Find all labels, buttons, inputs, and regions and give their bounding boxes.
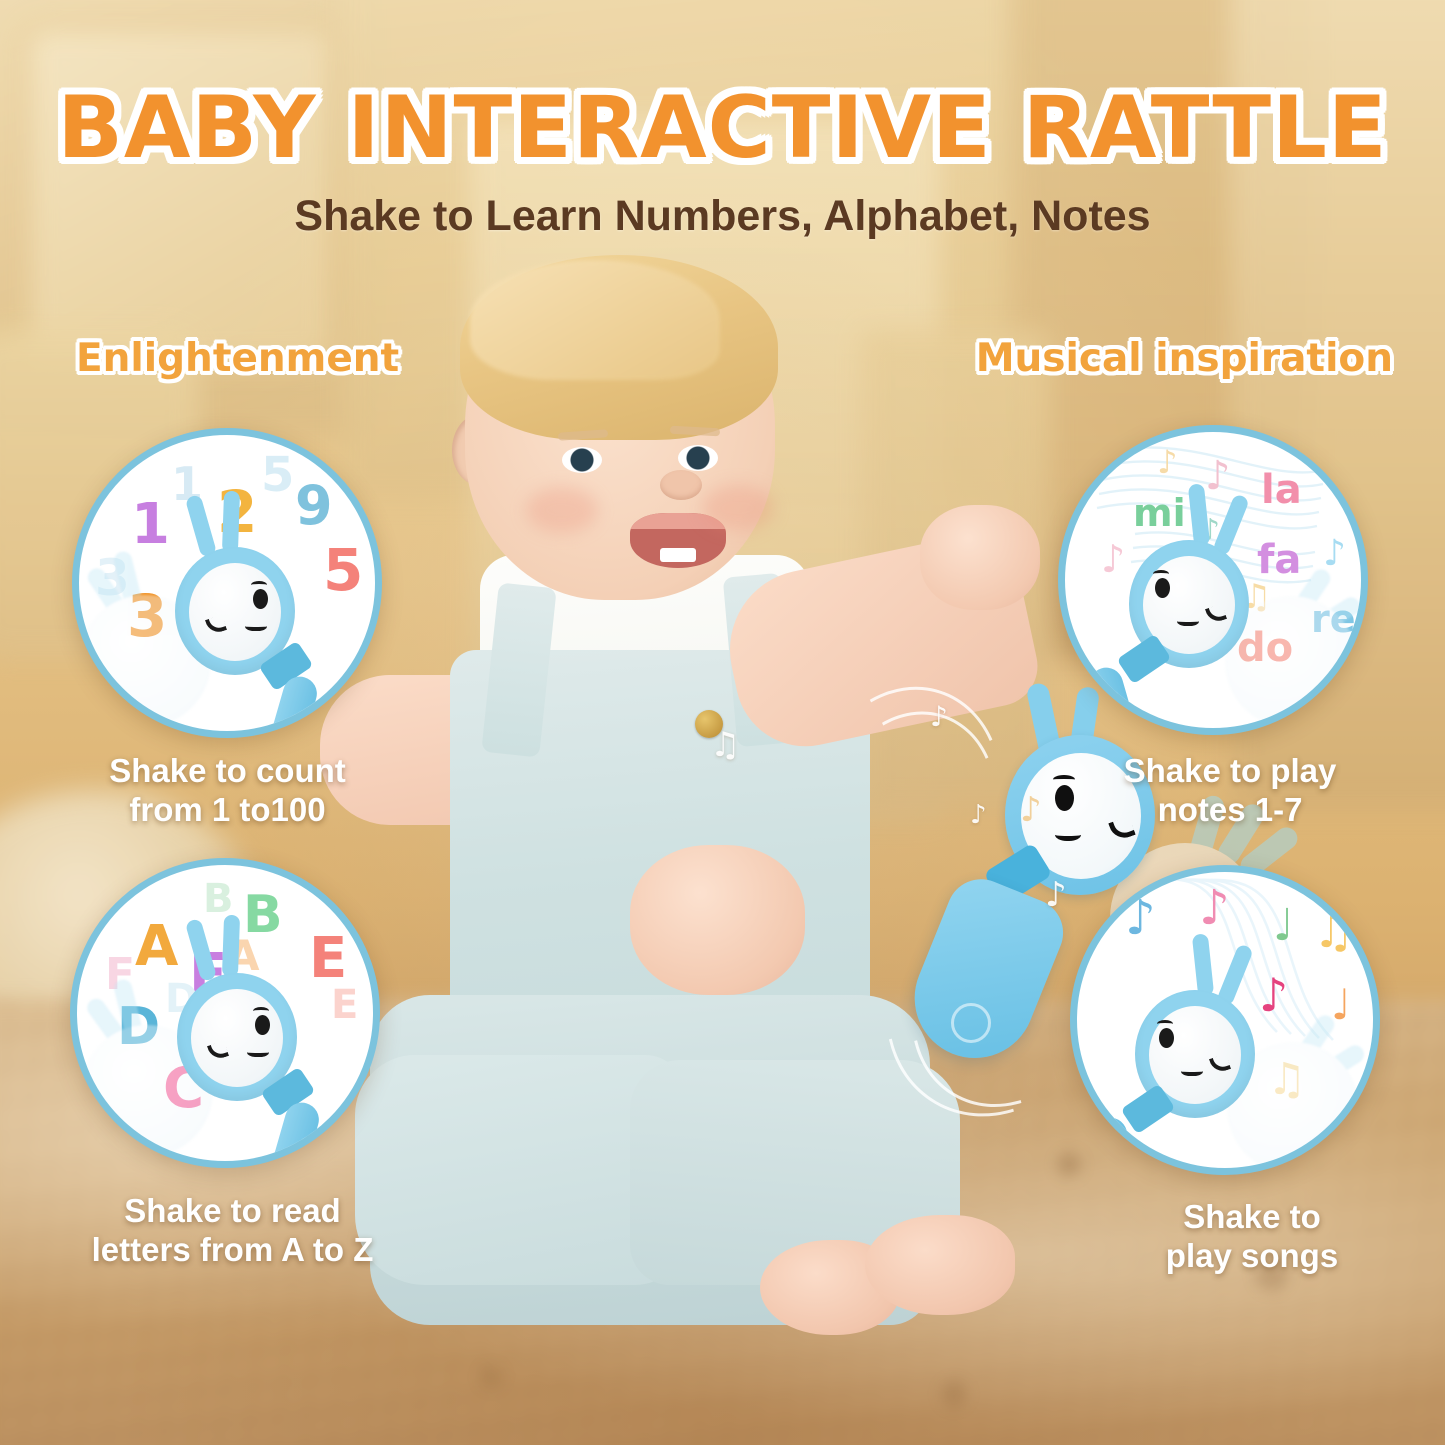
baby-foot [865, 1215, 1015, 1315]
baby-teeth [660, 548, 696, 562]
letter-glyph: E [331, 985, 358, 1025]
page-title: BABY INTERACTIVE RATTLE [0, 78, 1445, 178]
letter-glyph: B [203, 879, 234, 919]
letter-glyph: C [163, 1061, 204, 1117]
feature-caption-songs: Shake to play songs [1122, 1198, 1382, 1276]
baby-gripping-hand [630, 845, 805, 995]
music-note-icon: ♫ [1313, 908, 1354, 954]
feature-circle-songs[interactable]: ♪♪♩♫♪♩♫ [1070, 865, 1380, 1175]
baby-hair-highlight [470, 260, 720, 380]
number-glyph: 5 [261, 451, 294, 499]
feature-caption-notes: Shake to play notes 1-7 [1090, 752, 1370, 830]
rattle-eye [1055, 785, 1074, 811]
rattle-smile [1055, 827, 1081, 841]
baby-eye [678, 445, 718, 471]
number-glyph: 2 [217, 483, 257, 541]
music-note-icon: ♫ [1241, 580, 1271, 614]
baby-nose [660, 470, 702, 500]
letter-glyph: F [105, 953, 135, 997]
rattle-eyelash [251, 581, 267, 589]
music-note-icon: ♩ [1273, 904, 1294, 948]
rattle-smile [245, 619, 267, 631]
music-note-icon: ♪ [1125, 894, 1156, 942]
music-note-icon: ♪ [930, 700, 948, 733]
number-glyph: 9 [295, 479, 333, 533]
solfege-glyph: re [1311, 600, 1356, 638]
feature-caption-count: Shake to count from 1 to100 [60, 752, 395, 830]
rattle-eye [255, 1015, 270, 1035]
feature-circle-notes[interactable]: milafaredo ♪♪♪♫♪♪ [1058, 425, 1368, 735]
baby-photo: ♫ ♪ ♪ ♪ ♪ [330, 255, 1090, 1445]
feature-circle-letters[interactable]: BBAFFAEDDCEC [70, 858, 380, 1168]
solfege-glyph: la [1261, 470, 1302, 510]
solfege-glyph: fa [1257, 540, 1301, 580]
section-heading-right: Musical inspiration [976, 336, 1393, 381]
rattle-collar [1117, 634, 1172, 685]
solfege-glyph: mi [1133, 494, 1186, 532]
letter-glyph: A [227, 935, 260, 977]
rattle-smile [247, 1045, 269, 1057]
feature-circle-count[interactable]: 151293235 [72, 428, 382, 738]
music-note-icon: ♪ [1157, 446, 1177, 478]
product-marketing-image: ♫ ♪ ♪ ♪ ♪ BABY INTERACTIVE RATTLE Shake … [0, 0, 1445, 1445]
music-note-icon: ♩ [1331, 984, 1351, 1026]
music-note-icon: ♪ [1201, 516, 1220, 546]
letter-glyph: C [191, 1013, 222, 1055]
number-glyph: 3 [95, 553, 130, 603]
page-subtitle: Shake to Learn Numbers, Alphabet, Notes [0, 192, 1445, 241]
rattle-collar [259, 641, 314, 692]
rattle-eyelash [1053, 775, 1075, 784]
music-note-icon: ♪ [1323, 536, 1346, 572]
number-glyph: 1 [131, 497, 170, 553]
music-note-icon: ♪ [1259, 972, 1288, 1018]
baby-cheek [526, 487, 598, 533]
baby-eye [562, 447, 602, 473]
solfege-glyph: do [1237, 628, 1293, 668]
letter-glyph: A [135, 919, 178, 975]
music-note-icon: ♪ [1101, 540, 1125, 578]
section-heading-left: Enlightenment [76, 336, 399, 381]
rattle-wink-eye [205, 615, 227, 636]
music-note-icon: ♪ [1199, 884, 1230, 932]
rattle-eyelash [253, 1007, 269, 1015]
music-note-icon: ♪ [1205, 456, 1231, 496]
number-glyph: 5 [323, 541, 363, 599]
feature-caption-letters: Shake to read letters from A to Z [45, 1192, 420, 1270]
rattle-collar [261, 1067, 316, 1118]
baby-cheek [702, 485, 774, 531]
rattle-eye [253, 589, 268, 609]
letter-glyph: D [117, 1001, 160, 1053]
number-glyph: 3 [127, 587, 167, 645]
music-note-icon: ♫ [710, 725, 740, 765]
music-note-icon: ♫ [1267, 1058, 1306, 1102]
baby-right-hand [920, 505, 1040, 610]
music-note-icon: ♪ [1045, 875, 1067, 915]
music-note-icon: ♪ [1020, 790, 1042, 830]
letter-glyph: E [309, 931, 347, 987]
number-glyph: 2 [185, 567, 216, 611]
music-note-icon: ♪ [970, 800, 987, 830]
rattle-collar [1121, 1084, 1176, 1135]
number-glyph: 1 [171, 461, 203, 507]
